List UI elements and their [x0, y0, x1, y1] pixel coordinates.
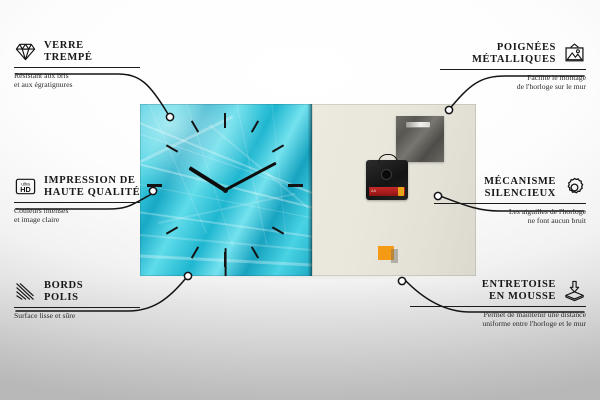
- foam-spacer-arrow-icon: [563, 279, 586, 302]
- feature-mecanisme-silencieux: MÉCANISME SILENCIEUX Les aiguilles de l'…: [434, 176, 586, 225]
- feature-title-line1: ENTRETOISE: [482, 279, 556, 291]
- feature-rule: [434, 203, 586, 204]
- feature-rule: [14, 202, 140, 203]
- feature-rule: [14, 307, 140, 308]
- feature-sub-line1: Facilite le montage: [440, 73, 586, 82]
- connector-endpoint-verre-trempe: [166, 113, 173, 120]
- feature-title-line1: VERRE: [44, 40, 93, 52]
- gear-icon: [563, 176, 586, 199]
- connector-endpoint-impression: [149, 187, 156, 194]
- feature-title-line1: POIGNÉES: [472, 42, 556, 54]
- feature-verre-trempe: VERRE TREMPÉ Résistant aux bris et aux é…: [14, 40, 140, 89]
- feature-sub-line1: Couleurs intenses: [14, 206, 140, 215]
- svg-text:HD: HD: [20, 185, 31, 194]
- feature-title-line1: BORDS: [44, 280, 83, 292]
- feature-sub-line2: et image claire: [14, 215, 140, 224]
- feature-title-line2: HAUTE QUALITÉ: [44, 187, 140, 199]
- feature-title-line2: MÉTALLIQUES: [472, 54, 556, 66]
- feature-entretoise-en-mousse: ENTRETOISE EN MOUSSE Permet de maintenir…: [410, 279, 586, 328]
- feature-title-line1: IMPRESSION DE: [44, 175, 140, 187]
- picture-frame-hanger-icon: [563, 42, 586, 65]
- feature-sub-line2: ne font aucun bruit: [434, 216, 586, 225]
- feature-title-line1: MÉCANISME: [484, 176, 556, 188]
- feature-sub-line2: de l'horloge sur le mur: [440, 82, 586, 91]
- feature-rule: [14, 67, 140, 68]
- feature-sub-line2: et aux égratignures: [14, 80, 140, 89]
- feature-bords-polis: BORDS POLIS Surface lisse et sûre: [14, 280, 140, 320]
- feature-poignees-metalliques: POIGNÉES MÉTALLIQUES Facilite le montage…: [440, 42, 586, 91]
- feature-rule: [440, 69, 586, 70]
- feature-sub-line1: Les aiguilles de l'horloge: [434, 207, 586, 216]
- feature-sub-line2: uniforme entre l'horloge et le mur: [410, 319, 586, 328]
- feature-rule: [410, 306, 586, 307]
- feature-title-line2: TREMPÉ: [44, 52, 93, 64]
- connector-endpoint-bords-polis: [184, 272, 191, 279]
- feature-title-line2: POLIS: [44, 292, 83, 304]
- connector-endpoint-poignees: [445, 106, 452, 113]
- polished-edge-icon: [14, 280, 37, 303]
- feature-impression-haute-qualite: ultra HD IMPRESSION DE HAUTE QUALITÉ Cou…: [14, 175, 140, 224]
- infographic-canvas: AA VERRE TREMPÉ: [0, 0, 600, 400]
- feature-sub-line1: Permet de maintenir une distance: [410, 310, 586, 319]
- feature-sub-line1: Surface lisse et sûre: [14, 311, 140, 320]
- feature-sub-line1: Résistant aux bris: [14, 71, 140, 80]
- feature-title-line2: EN MOUSSE: [482, 291, 556, 303]
- connector-endpoint-entretoise: [398, 277, 405, 284]
- ultra-hd-icon: ultra HD: [14, 175, 37, 198]
- feature-title-line2: SILENCIEUX: [484, 188, 556, 200]
- diamond-icon: [14, 40, 37, 63]
